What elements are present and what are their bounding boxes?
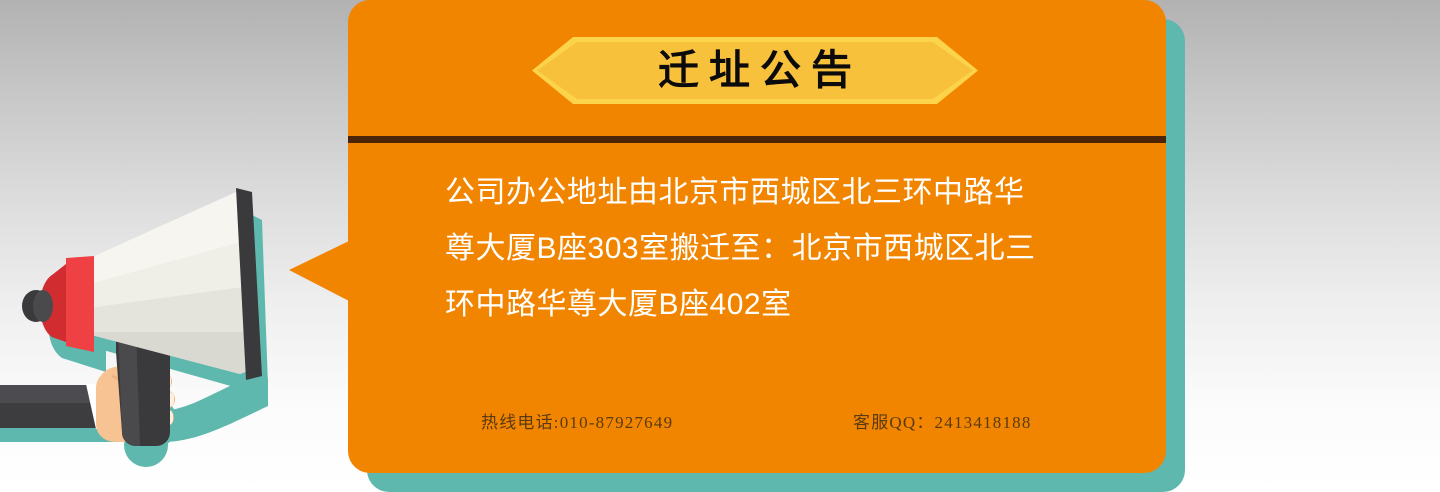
announcement-line: 环中路华尊大厦B座402室 (445, 277, 1105, 333)
bubble-tail (289, 240, 351, 302)
announcement-banner: 迁址公告 公司办公地址由北京市西城区北三环中路华 尊大厦B座303室搬迁至：北京… (0, 0, 1440, 492)
announcement-body: 公司办公地址由北京市西城区北三环中路华 尊大厦B座303室搬迁至：北京市西城区北… (445, 165, 1105, 333)
suit-sleeve (0, 384, 110, 429)
divider (348, 136, 1166, 143)
title-banner: 迁址公告 (532, 37, 978, 104)
announcement-line: 尊大厦B座303室搬迁至：北京市西城区北三 (445, 221, 1105, 277)
qq-text: 客服QQ：2413418188 (853, 408, 1032, 433)
announcement-panel: 迁址公告 公司办公地址由北京市西城区北三环中路华 尊大厦B座303室搬迁至：北京… (348, 0, 1166, 473)
announcement-line: 公司办公地址由北京市西城区北三环中路华 (445, 165, 1105, 221)
hotline-text: 热线电话:010-87927649 (481, 408, 673, 433)
megaphone-icon (0, 180, 320, 492)
page-title: 迁址公告 (532, 37, 978, 104)
contact-footer: 热线电话:010-87927649 客服QQ：2413418188 (348, 408, 1166, 438)
